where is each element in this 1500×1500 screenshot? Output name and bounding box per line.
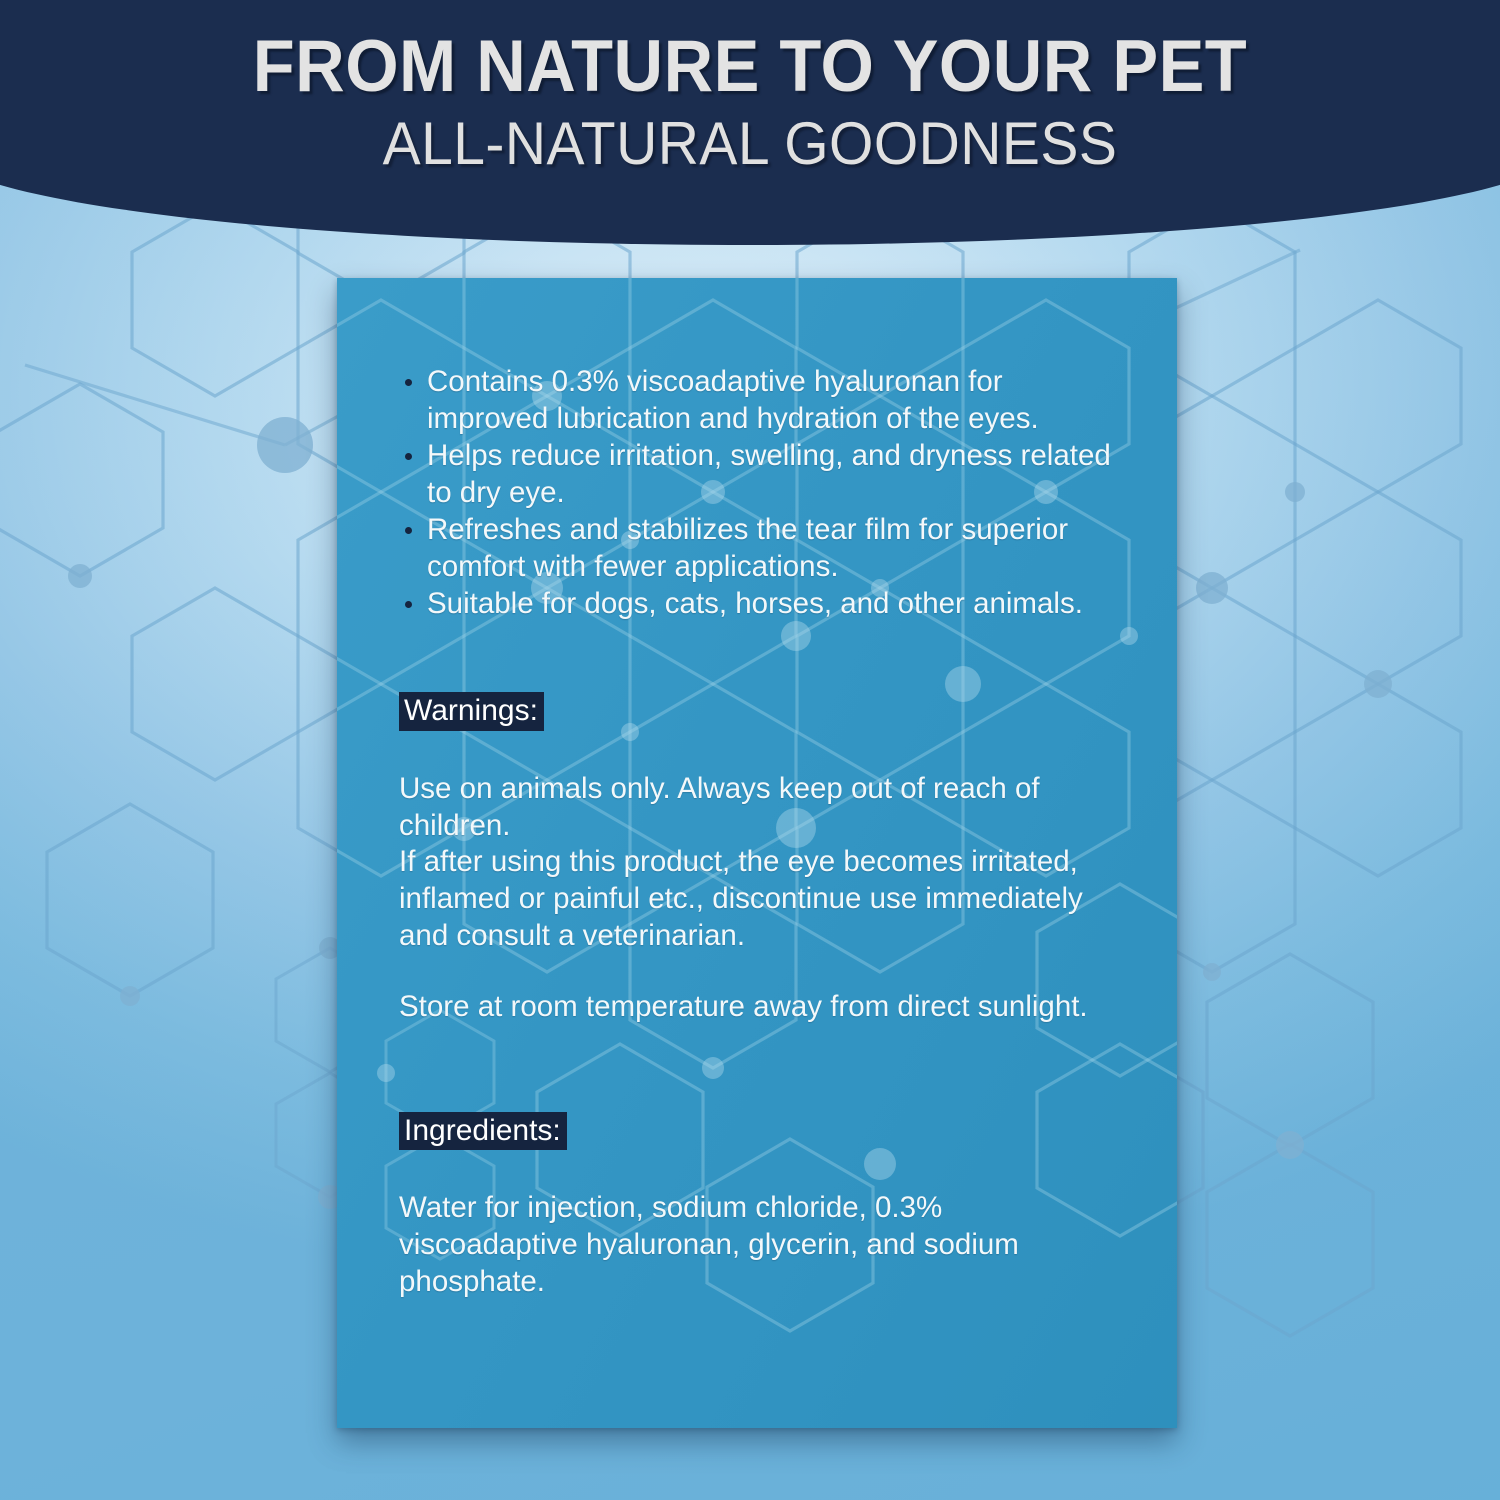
list-item: Refreshes and stabilizes the tear film f… [399,512,1119,585]
list-item: Helps reduce irritation, swelling, and d… [399,438,1119,511]
ingredients-body: Water for injection, sodium chloride, 0.… [399,1190,1119,1301]
header-banner: FROM NATURE TO YOUR PET ALL-NATURAL GOOD… [0,0,1500,260]
list-item: Contains 0.3% viscoadaptive hyaluronan f… [399,364,1119,437]
ingredients-heading: Ingredients: [399,1112,567,1151]
spacer [399,731,1119,771]
spacer [399,955,1119,989]
storage-instructions: Store at room temperature away from dire… [399,989,1119,1026]
warnings-section: Warnings: Use on animals only. Always ke… [399,692,1119,1026]
benefits-list: Contains 0.3% viscoadaptive hyaluronan f… [399,364,1119,623]
spacer [399,624,1119,692]
product-label-infographic: FROM NATURE TO YOUR PET ALL-NATURAL GOOD… [0,0,1500,1500]
warnings-heading: Warnings: [399,692,544,731]
page-title: FROM NATURE TO YOUR PET [45,0,1455,104]
spacer [399,1150,1119,1190]
content-card: Contains 0.3% viscoadaptive hyaluronan f… [337,278,1177,1428]
warnings-body: Use on animals only. Always keep out of … [399,771,1119,955]
list-item: Suitable for dogs, cats, horses, and oth… [399,586,1119,623]
ingredients-section: Ingredients: Water for injection, sodium… [399,1112,1119,1301]
spacer [399,1026,1119,1112]
page-subtitle: ALL-NATURAL GOODNESS [38,104,1463,175]
